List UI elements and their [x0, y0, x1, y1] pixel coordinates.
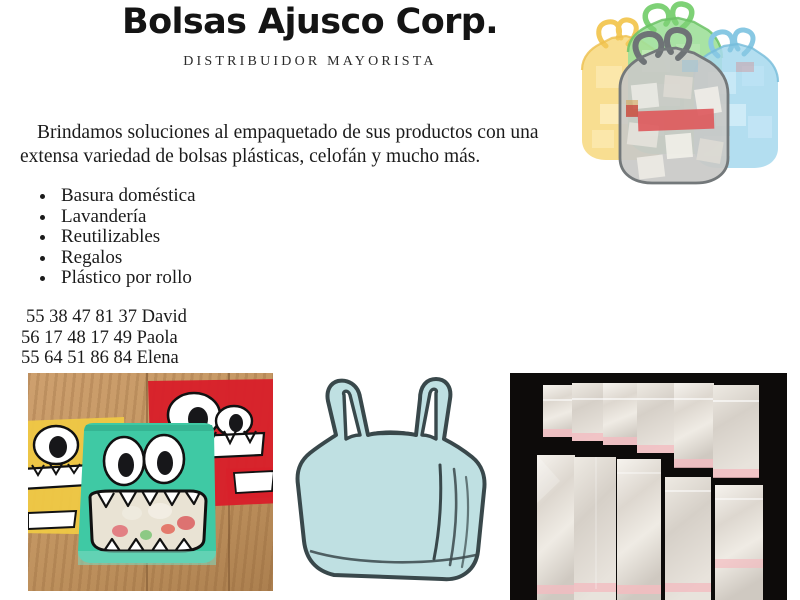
- product-label: Reutilizables: [61, 226, 160, 247]
- cellophane-bag: [715, 485, 763, 600]
- cellophane-bags-photo: [510, 373, 787, 600]
- monster-face-candy-bags-photo: [28, 373, 273, 591]
- list-item: Regalos: [40, 248, 196, 269]
- trash-bags-illustration: [566, 0, 794, 192]
- cellophane-bags-svg: [510, 373, 787, 600]
- cellophane-bag: [713, 385, 759, 478]
- product-label: Regalos: [61, 247, 122, 268]
- cellophane-bag: [617, 459, 661, 600]
- contact-list: 55 38 47 81 37 David 56 17 48 17 49 Paol…: [21, 307, 187, 369]
- list-item: Reutilizables: [40, 227, 196, 248]
- list-item: Basura doméstica: [40, 186, 196, 207]
- cellophane-bag: [574, 457, 616, 600]
- contact-row: 55 64 51 86 84 Elena: [21, 348, 187, 369]
- trash-bags-svg: [566, 0, 794, 192]
- page-title: Bolsas Ajusco Corp.: [0, 2, 620, 42]
- list-item: Lavandería: [40, 207, 196, 228]
- intro-paragraph: Brindamos soluciones al empaquetado de s…: [20, 121, 580, 169]
- page-subtitle: DISTRIBUIDOR MAYORISTA: [0, 54, 620, 70]
- product-label: Plástico por rollo: [61, 267, 192, 288]
- cellophane-bag: [674, 383, 714, 468]
- cellophane-bag: [665, 477, 711, 600]
- cellophane-bag: [537, 455, 575, 600]
- tshirt-bag-svg: [290, 373, 490, 588]
- product-label: Lavandería: [61, 206, 146, 227]
- product-list: Basura doméstica Lavandería Reutilizable…: [40, 186, 196, 289]
- list-item: Plástico por rollo: [40, 268, 196, 289]
- cellophane-bag: [603, 383, 641, 445]
- monster-bag-green: [78, 423, 216, 565]
- contact-row: 55 38 47 81 37 David: [21, 307, 187, 328]
- cellophane-bag: [637, 383, 677, 453]
- product-label: Basura doméstica: [61, 185, 196, 206]
- monster-bags-svg: [28, 373, 273, 591]
- contact-row: 56 17 48 17 49 Paola: [21, 328, 187, 349]
- tshirt-bag-illustration: [290, 373, 490, 588]
